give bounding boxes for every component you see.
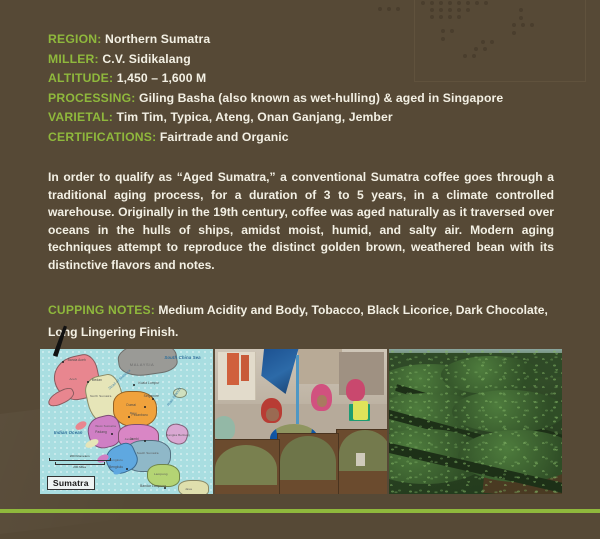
map-city-bandar-lampung: Bandar Lampung [140, 484, 166, 488]
spec-row-miller: MILLER: C.V. Sidikalang [48, 50, 568, 70]
spec-label-region: REGION: [48, 32, 102, 46]
map-city-singapore: Singapore [144, 394, 159, 398]
bottom-accent-rule [0, 509, 600, 513]
photo-strip: South China Sea Indian Ocean MALAYSIA St… [40, 349, 562, 494]
photo2-worker-3-face [317, 395, 327, 407]
spec-label-processing: PROCESSING: [48, 91, 136, 105]
map-city-dumai: Dumai [126, 403, 136, 407]
spec-value-region: Northern Sumatra [105, 32, 210, 46]
map-city-banda-aceh: Banda Aceh [68, 358, 86, 362]
photo2-worker-1-headscarf [215, 416, 236, 441]
coffee-seedling-nursery-image [389, 349, 562, 494]
map-label-north-sumatra: North Sumatra [90, 394, 111, 398]
photo2-post [296, 355, 299, 425]
map-scale-bar: 200 Kilometers 200 Miles [49, 454, 111, 470]
spec-label-altitude: ALTITUDE: [48, 71, 113, 85]
spec-row-region: REGION: Northern Sumatra [48, 30, 568, 50]
map-label-indian-ocean: Indian Ocean [54, 430, 83, 435]
coffee-spec-list: REGION: Northern Sumatra MILLER: C.V. Si… [48, 30, 568, 147]
halftone-dots-stray [378, 0, 408, 14]
map-city-kuala-lumpur: Kuala Lumpur [138, 381, 159, 385]
map-city-padang: Padang [95, 430, 107, 434]
spec-value-certifications: Fairtrade and Organic [160, 130, 289, 144]
spec-value-miller: C.V. Sidikalang [102, 52, 190, 66]
map-label-lampung: Lampung [154, 472, 168, 476]
map-label-bengkulu-region: Bengkulu [109, 458, 123, 462]
map-city-pekanbaru: Pekanbaru [132, 413, 148, 417]
photo2-bin-tag [356, 453, 365, 466]
photo2-door-red-2 [241, 355, 250, 381]
spec-label-certifications: CERTIFICATIONS: [48, 130, 156, 144]
spec-value-altitude: 1,450 – 1,600 M [117, 71, 207, 85]
map-label-malaysia: MALAYSIA [130, 362, 155, 367]
map-label-java: Java [185, 487, 192, 491]
map-region-java [178, 480, 209, 495]
map-scale-km: 200 Kilometers [49, 454, 111, 458]
cupping-notes: CUPPING NOTES: Medium Acidity and Body, … [48, 299, 564, 343]
spec-label-varietal: VARIETAL: [48, 110, 113, 124]
spec-label-miller: MILLER: [48, 52, 99, 66]
map-label-south-china-sea: South China Sea [164, 355, 200, 360]
map-city-bengkulu: Bengkulu [109, 465, 123, 469]
photo2-worker-2-face [266, 408, 278, 421]
photo2-yellow-bag [353, 401, 369, 420]
map-label-aceh: Aceh [69, 377, 76, 381]
sumatra-map-image: South China Sea Indian Ocean MALAYSIA St… [40, 349, 213, 494]
photo2-building-mid [298, 349, 343, 384]
women-sorting-coffee-image [215, 349, 388, 494]
spec-row-processing: PROCESSING: Giling Basha (also known as … [48, 89, 568, 109]
photo2-door-red [227, 353, 239, 385]
spec-value-varietal: Tim Tim, Typica, Ateng, Onan Ganjang, Je… [117, 110, 393, 124]
description-paragraph: In order to qualify as “Aged Sumatra,” a… [48, 169, 554, 275]
photo2-worker-4-headscarf [346, 379, 365, 401]
spec-value-processing: Giling Basha (also known as wet-hulling)… [139, 91, 503, 105]
spec-row-altitude: ALTITUDE: 1,450 – 1,600 M [48, 69, 568, 89]
photo3-leaf-texture [389, 349, 562, 494]
map-city-jambi: Jambi [130, 437, 139, 441]
cupping-notes-label: CUPPING NOTES: [48, 303, 155, 317]
map-label-bangka-belitung: Bangka Belitung [166, 433, 190, 437]
map-scale-mi: 200 Miles [49, 465, 111, 469]
map-city-medan: Medan [92, 378, 102, 382]
map-label-south-sumatra: South Sumatra [137, 451, 159, 455]
map-title-sumatra: Sumatra [47, 476, 95, 490]
map-label-west-sumatra: West Sumatra [95, 424, 116, 428]
spec-row-certifications: CERTIFICATIONS: Fairtrade and Organic [48, 128, 568, 148]
photo2-bean-heap-2 [280, 436, 335, 480]
spec-row-varietal: VARIETAL: Tim Tim, Typica, Ateng, Onan G… [48, 108, 568, 128]
